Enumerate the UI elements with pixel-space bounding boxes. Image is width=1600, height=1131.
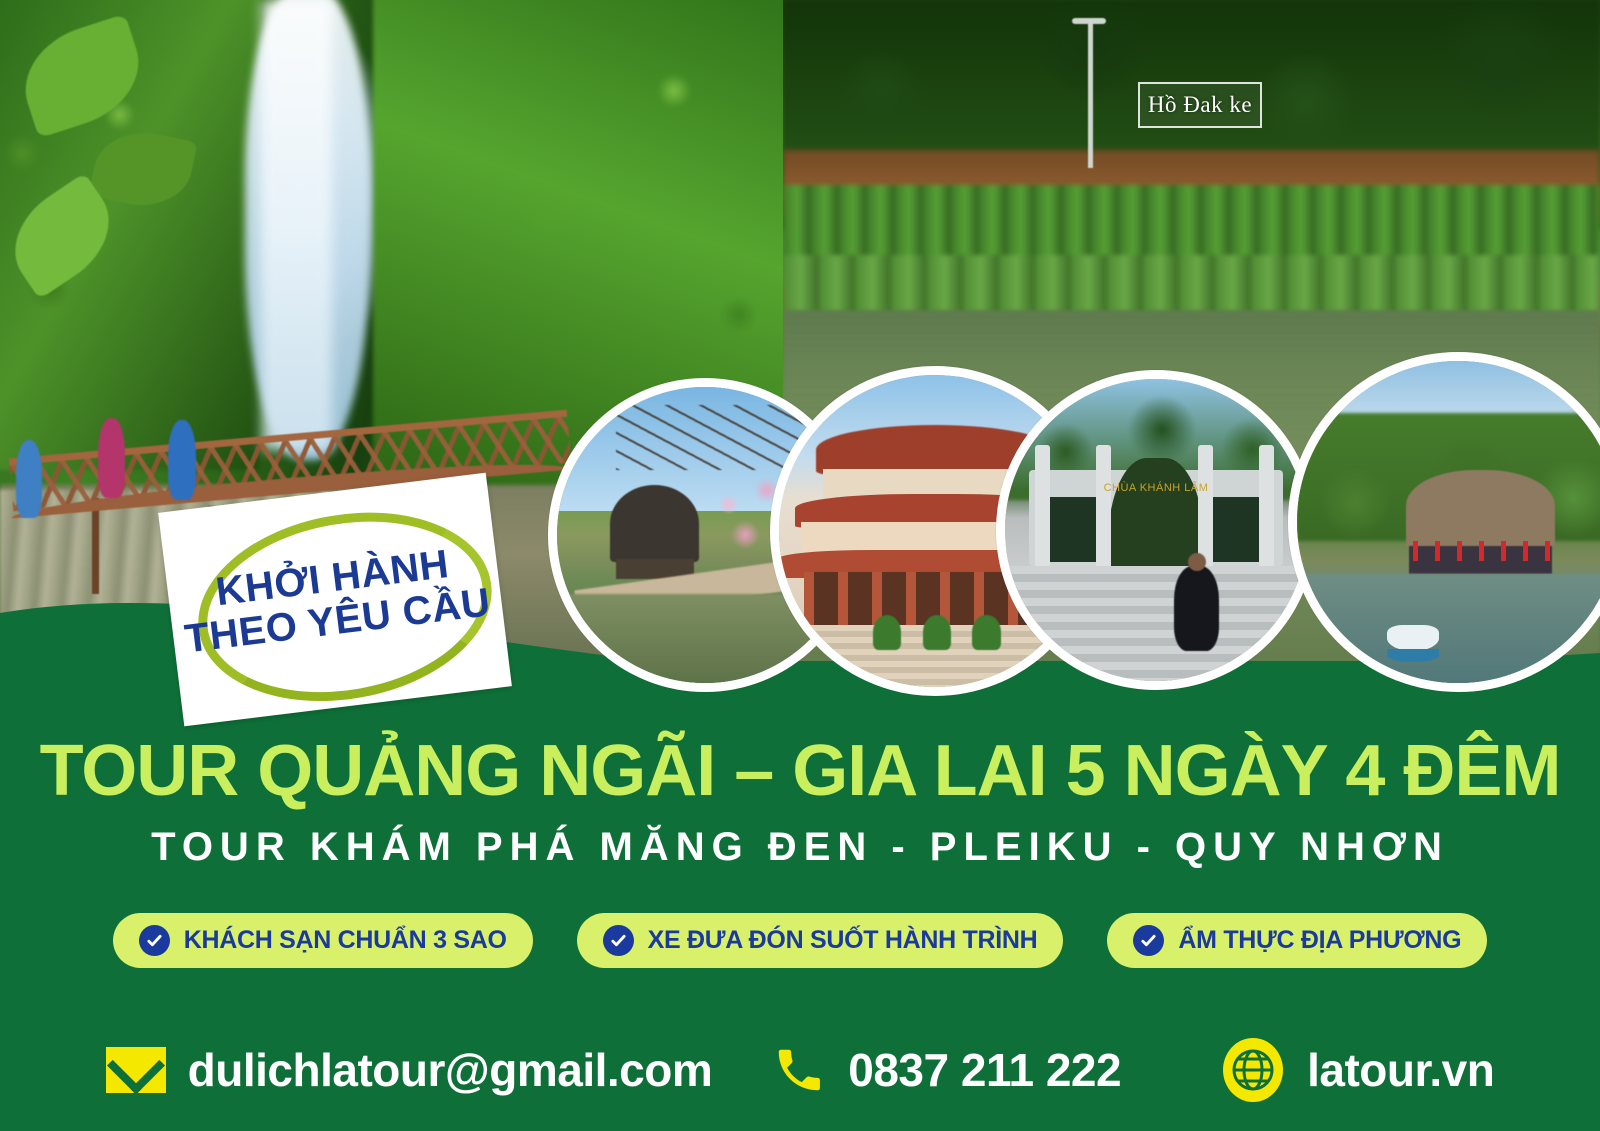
contact-website-text: latour.vn [1307,1043,1494,1097]
stilt-house [610,485,699,562]
light-pole [1088,18,1093,168]
rong-house [1406,470,1554,547]
contact-email[interactable]: dulichlatour@gmail.com [106,1043,713,1097]
gate-pillar [1035,445,1050,572]
thumbnail-image: CHÙA KHÁNH LÂM [1005,379,1307,681]
departure-badge: KHỞI HÀNH THEO YÊU CẦU [158,473,512,727]
temple-steps [1005,566,1307,681]
phone-icon [772,1043,826,1097]
seated-visitor [1174,566,1219,651]
contact-website[interactable]: latour.vn [1221,1038,1494,1102]
thumbnail-temple-gate: CHÙA KHÁNH LÂM [996,370,1316,690]
tree-branch [616,405,805,470]
check-circle-icon [139,925,170,956]
contact-phone[interactable]: 0837 211 222 [772,1043,1121,1097]
envelope-icon [106,1047,166,1093]
red-flags [1413,541,1555,560]
thumbnail-image [1297,361,1600,683]
feature-pill-label: XE ĐƯA ĐÓN SUỐT HÀNH TRÌNH [648,926,1038,955]
page-subtitle: TOUR KHÁM PHÁ MĂNG ĐEN - PLEIKU - QUY NH… [0,827,1600,867]
potted-plant [873,615,901,649]
visitor-figure [168,420,196,500]
feature-pill-label: ẨM THỰC ĐỊA PHƯƠNG [1178,926,1461,955]
contact-bar: dulichlatour@gmail.com 0837 211 222 [0,1020,1600,1120]
visitor-figure [98,418,125,498]
gate-inscription: CHÙA KHÁNH LÂM [1084,482,1229,494]
lake-sign: Hồ Đak ke [1138,82,1262,128]
visitor-figure [16,440,42,518]
pedal-boat [1387,625,1439,651]
potted-plant [972,615,1000,649]
contact-email-text: dulichlatour@gmail.com [188,1043,713,1097]
gate-pillar [1096,445,1111,572]
lake-water [1297,574,1600,683]
feature-pill-label: KHÁCH SẠN CHUẨN 3 SAO [184,926,507,955]
feature-pill-hotel[interactable]: KHÁCH SẠN CHUẨN 3 SAO [113,913,533,968]
potted-plant [923,615,951,649]
thumbnail-rong-house [1288,352,1600,692]
gate-pillar [1259,445,1274,572]
feature-pill-list: KHÁCH SẠN CHUẨN 3 SAO XE ĐƯA ĐÓN SUỐT HÀ… [0,913,1600,968]
badge-text: KHỞI HÀNH THEO YÊU CẦU [158,473,512,727]
check-circle-icon [1133,925,1164,956]
waterfall-stream-core [262,0,332,450]
feature-pill-transport[interactable]: XE ĐƯA ĐÓN SUỐT HÀNH TRÌNH [577,913,1064,968]
contact-phone-text: 0837 211 222 [848,1043,1121,1097]
travel-poster: Hồ Đak ke [0,0,1600,1131]
globe-icon [1221,1038,1285,1102]
feature-pill-cuisine[interactable]: ẨM THỰC ĐỊA PHƯƠNG [1107,913,1487,968]
page-title: TOUR QUẢNG NGÃI – GIA LAI 5 NGÀY 4 ĐÊM [0,735,1600,807]
check-circle-icon [603,925,634,956]
